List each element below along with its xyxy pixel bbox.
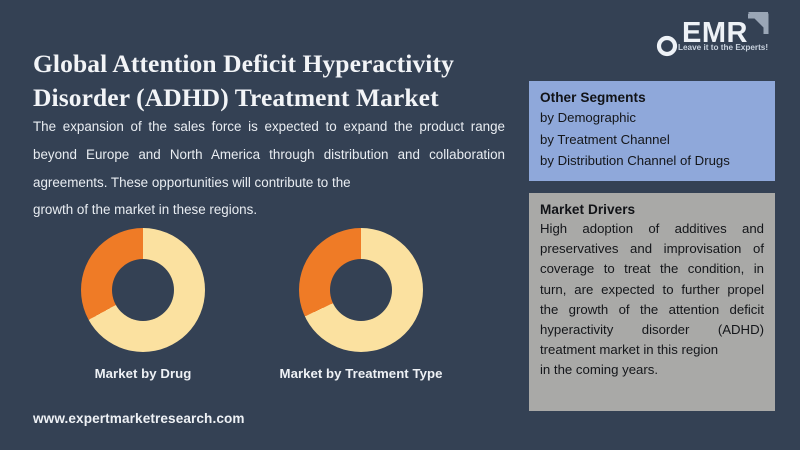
chart-market-by-treatment-type: Market by Treatment Type xyxy=(246,228,476,381)
intro-paragraph: The expansion of the sales force is expe… xyxy=(33,113,505,224)
market-drivers-heading: Market Drivers xyxy=(540,202,764,217)
chart-title-market-by-treatment-type: Market by Treatment Type xyxy=(246,366,476,381)
other-segments-item-0: by Demographic xyxy=(540,107,764,129)
page-title: Global Attention Deficit Hyperactivity D… xyxy=(33,47,533,114)
other-segments-item-2: by Distribution Channel of Drugs xyxy=(540,150,764,172)
donut-wrap-drug xyxy=(81,228,205,352)
donut-chart-drug xyxy=(81,228,205,352)
other-segments-box: Other Segments by Demographic by Treatme… xyxy=(529,81,775,181)
market-drivers-body: High adoption of additives and preservat… xyxy=(540,219,764,381)
donut-wrap-treatment xyxy=(299,228,423,352)
market-drivers-body-last-line: in the coming years. xyxy=(540,360,764,380)
other-segments-heading: Other Segments xyxy=(540,90,764,105)
donut-charts-group: Market by Drug Market by Treatment Type xyxy=(28,228,508,398)
chart-title-market-by-drug: Market by Drug xyxy=(28,366,258,381)
emr-logo[interactable]: EMR Leave it to the Experts! xyxy=(656,10,786,58)
market-drivers-body-text: High adoption of additives and preservat… xyxy=(540,221,764,357)
intro-paragraph-text: The expansion of the sales force is expe… xyxy=(33,119,505,190)
donut-chart-treatment-type xyxy=(299,228,423,352)
market-drivers-box: Market Drivers High adoption of additive… xyxy=(529,193,775,411)
intro-paragraph-last-line: growth of the market in these regions. xyxy=(33,196,505,224)
ring-icon xyxy=(659,38,675,54)
logo-tagline: Leave it to the Experts! xyxy=(678,43,768,52)
infographic-slide: EMR Leave it to the Experts! Global Atte… xyxy=(0,0,800,450)
website-url[interactable]: www.expertmarketresearch.com xyxy=(33,411,245,426)
other-segments-item-1: by Treatment Channel xyxy=(540,129,764,151)
chart-market-by-drug: Market by Drug xyxy=(28,228,258,381)
growth-arrow-icon xyxy=(748,12,768,34)
